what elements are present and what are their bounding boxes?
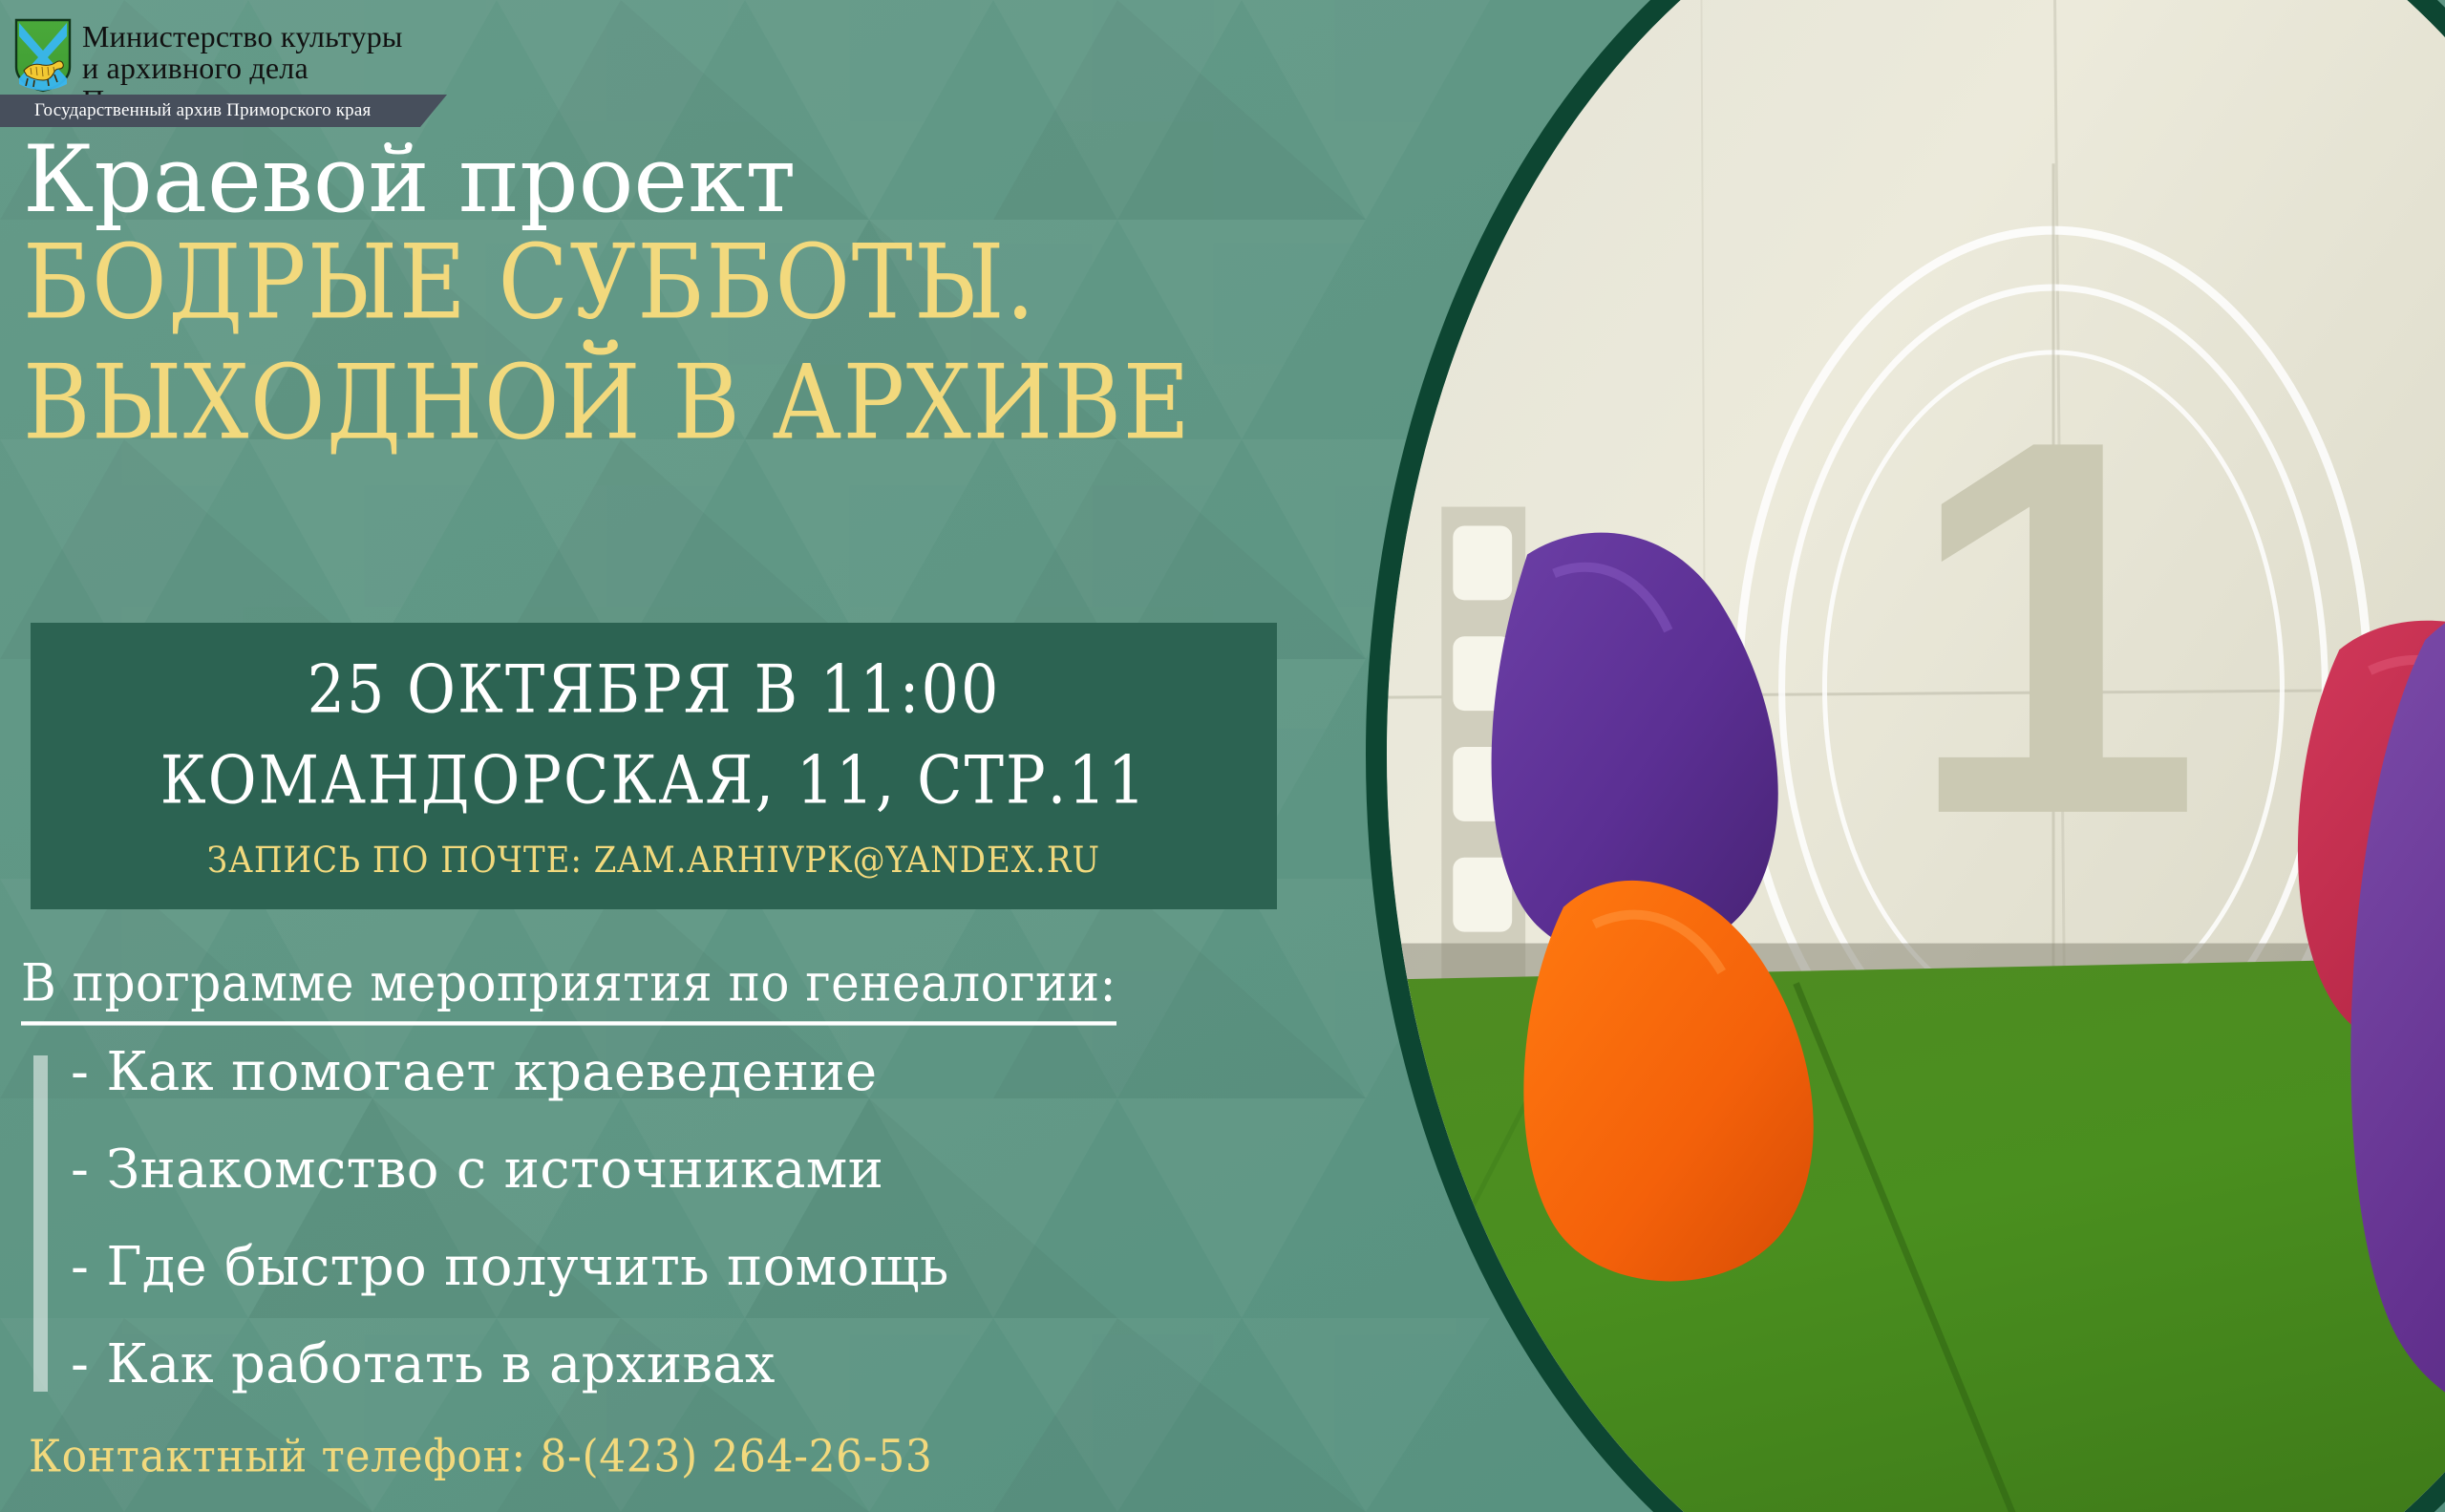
event-address: КОМАНДОРСКАЯ, 11, СТР.11 — [160, 745, 1148, 815]
program-accent-bar — [33, 1055, 48, 1392]
event-details-box: 25 ОКТЯБРЯ В 11:00 КОМАНДОРСКАЯ, 11, СТР… — [31, 623, 1277, 909]
list-item: - Где быстро получить помощь — [71, 1241, 1350, 1294]
coat-of-arms-icon — [13, 17, 73, 94]
poster-root: 1 — [0, 0, 2445, 1512]
photo-disc: 1 — [1366, 0, 2445, 1512]
program-list: - Как помогает краеведение - Знакомство … — [71, 1046, 1350, 1392]
title-line-1: Краевой проект — [23, 134, 1350, 225]
program-heading: В программе мероприятия по генеалогии: — [21, 953, 1116, 1026]
event-signup-email: ЗАПИСЬ ПО ПОЧТЕ: ZAM.ARHIVPK@YANDEX.RU — [207, 840, 1100, 882]
title-line-3: ВЫХОДНОЙ В АРХИВЕ — [23, 351, 1350, 457]
title-block: Краевой проект БОДРЫЕ СУББОТЫ. ВЫХОДНОЙ … — [13, 134, 1350, 445]
event-date-time: 25 ОКТЯБРЯ В 11:00 — [308, 654, 1001, 724]
list-item: - Как помогает краеведение — [71, 1046, 1350, 1099]
svg-text:1: 1 — [1905, 330, 2202, 926]
contact-phone: Контактный телефон: 8-(423) 264-26-53 — [29, 1431, 932, 1482]
archive-ribbon: Государственный архив Приморского края — [0, 95, 447, 127]
title-line-2: БОДРЫЕ СУББОТЫ. — [23, 231, 1350, 336]
list-item: - Знакомство с источниками — [71, 1143, 1350, 1197]
archive-ribbon-label: Государственный архив Приморского края — [0, 100, 371, 121]
list-item: - Как работать в архивах — [71, 1338, 1350, 1392]
photo-content: 1 — [1387, 0, 2445, 1512]
